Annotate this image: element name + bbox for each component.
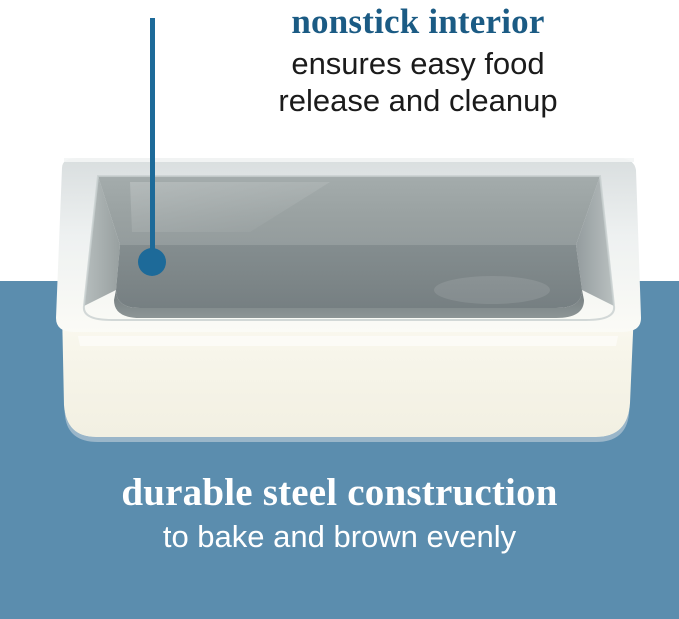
pan-body-highlight xyxy=(78,336,618,346)
pan-interior-reflection xyxy=(434,276,550,304)
callout-subtext-line-1: ensures easy food xyxy=(168,45,668,82)
callout-dot xyxy=(138,248,166,276)
caption-block: durable steel construction to bake and b… xyxy=(0,470,679,556)
callout-subtext: ensures easy food release and cleanup xyxy=(168,42,668,119)
callout-title: nonstick interior xyxy=(168,0,668,42)
callout-leader-line xyxy=(150,18,155,264)
callout-subtext-line-2: release and cleanup xyxy=(168,82,668,119)
pan-illustration xyxy=(0,140,679,460)
product-infographic: nonstick interior ensures easy food rele… xyxy=(0,0,679,619)
caption-subtitle: to bake and brown evenly xyxy=(0,516,679,556)
caption-title: durable steel construction xyxy=(0,470,679,516)
callout-text-block: nonstick interior ensures easy food rele… xyxy=(168,0,668,119)
